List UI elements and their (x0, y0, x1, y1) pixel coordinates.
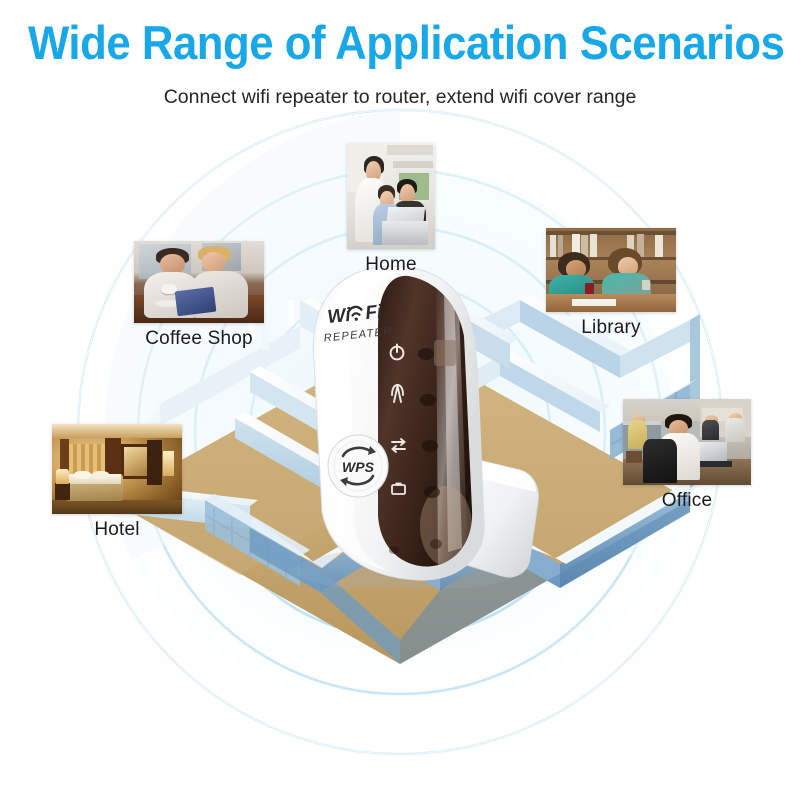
led-dot-repeater (422, 440, 438, 452)
scenario-hotel: Hotel (52, 424, 182, 541)
device-indicator-panel (378, 276, 472, 567)
scenario-coffee-shop: Coffee Shop (134, 241, 264, 350)
home-label: Home (347, 254, 435, 276)
office-photo (623, 399, 751, 485)
page-title: Wide Range of Application Scenarios (28, 18, 772, 69)
led-dot-wifi (420, 394, 436, 406)
coffee-shop-photo (134, 241, 264, 323)
page-subtitle: Connect wifi repeater to router, extend … (0, 86, 800, 109)
home-photo (347, 143, 435, 249)
scenario-home: Home (347, 143, 435, 276)
hotel-label: Hotel (52, 519, 182, 541)
library-photo (546, 228, 676, 312)
office-label: Office (623, 490, 751, 512)
led-dot-power (418, 348, 434, 360)
wps-button[interactable]: WPS (328, 435, 388, 497)
scenario-library: Library (546, 228, 676, 339)
hotel-photo (52, 424, 182, 514)
library-label: Library (546, 317, 676, 339)
wps-label: WPS (342, 459, 375, 475)
scenario-office: Office (623, 399, 751, 512)
svg-text:Fi: Fi (364, 301, 384, 324)
scenario-illustration: Wi Fi REPEATER WPS Wide Range of Appl (0, 0, 800, 800)
wifi-repeater-device: Wi Fi REPEATER WPS (258, 258, 548, 588)
led-dot-lan (424, 486, 440, 498)
coffee-shop-label: Coffee Shop (134, 328, 264, 350)
svg-text:Wi: Wi (326, 305, 352, 328)
